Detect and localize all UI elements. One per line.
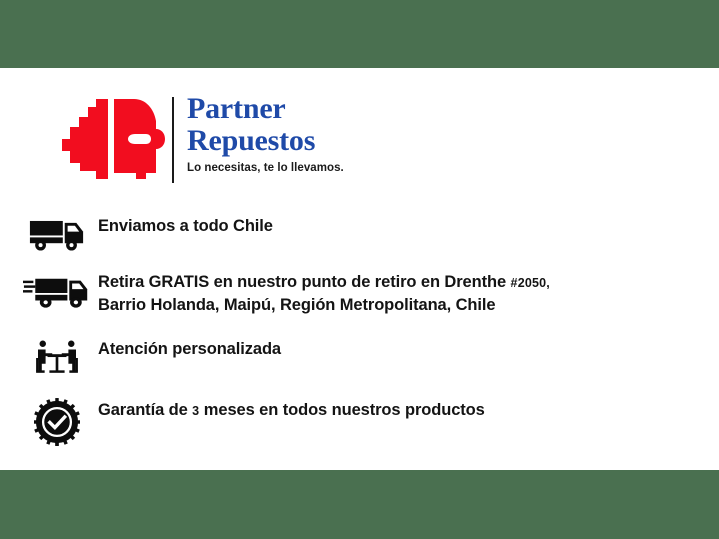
garantia-part-1: Garantía de	[98, 401, 192, 419]
retiro-line-1-part-1: Retira GRATIS en nuestro punto de retiro…	[98, 273, 511, 291]
fast-delivery-truck-icon	[16, 270, 98, 314]
feature-text-envios: Enviamos a todo Chile	[98, 214, 706, 237]
delivery-truck-icon	[16, 214, 98, 254]
brand-logo-block: Partner Repuestos Lo necesitas, te lo ll…	[60, 93, 620, 188]
feature-row-retiro: Retira GRATIS en nuestro punto de retiro…	[16, 270, 706, 316]
brand-name-line-2: Repuestos	[187, 125, 607, 157]
retiro-line-2: Barrio Holanda, Maipú, Región Metropolit…	[98, 296, 495, 314]
brand-tagline: Lo necesitas, te lo llevamos.	[187, 161, 607, 175]
feature-text-retiro: Retira GRATIS en nuestro punto de retiro…	[98, 270, 706, 316]
retiro-street-number: #2050,	[511, 276, 550, 290]
gear-car-icon	[60, 95, 168, 183]
feature-row-envios: Enviamos a todo Chile	[16, 214, 706, 254]
brand-text: Partner Repuestos Lo necesitas, te lo ll…	[187, 93, 607, 175]
check-badge-icon	[16, 398, 98, 446]
bottom-green-band	[0, 470, 719, 539]
promo-banner: Partner Repuestos Lo necesitas, te lo ll…	[0, 0, 719, 539]
brand-name-line-1: Partner	[187, 93, 607, 125]
feature-text-atencion: Atención personalizada	[98, 337, 706, 360]
logo-divider	[172, 97, 174, 183]
feature-row-atencion: Atención personalizada	[16, 337, 706, 379]
people-at-table-icon	[16, 337, 98, 379]
feature-row-garantia: Garantía de 3 meses en todos nuestros pr…	[16, 398, 706, 446]
garantia-part-2: meses en todos nuestros productos	[199, 401, 484, 419]
feature-text-garantia: Garantía de 3 meses en todos nuestros pr…	[98, 398, 706, 422]
top-green-band	[0, 0, 719, 68]
